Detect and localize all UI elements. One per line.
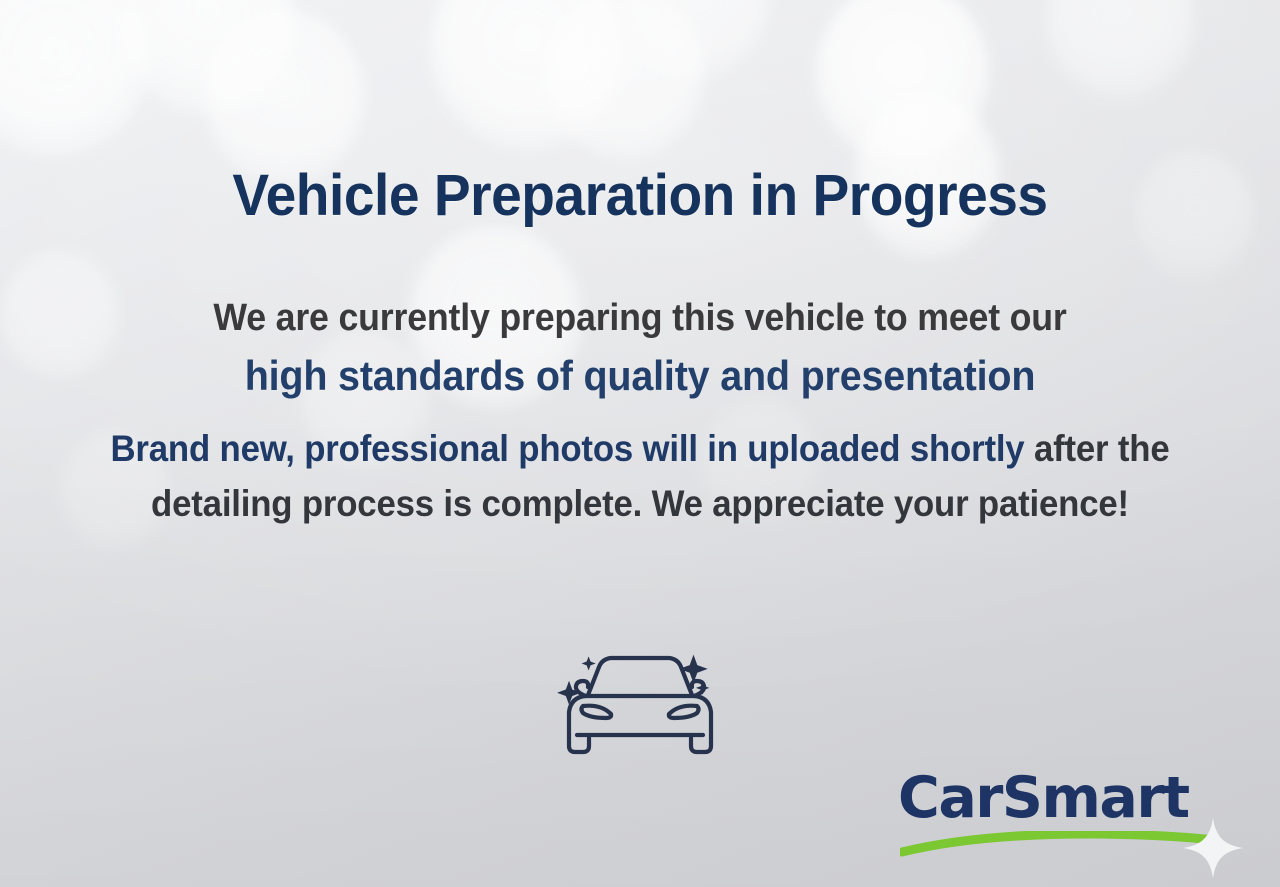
logo-sparkle-icon: [1182, 817, 1244, 879]
car-icon-svg: [545, 634, 735, 774]
logo-wordmark: CarSmart: [898, 765, 1208, 831]
message-paragraph: Brand new, professional photos will in u…: [38, 421, 1241, 532]
message-paragraph-part-1: Brand new, professional photos will in u…: [110, 428, 1024, 469]
carsmart-logo: CarSmart: [898, 765, 1228, 877]
message-block: We are currently preparing this vehicle …: [0, 298, 1280, 532]
message-line-1: We are currently preparing this vehicle …: [38, 298, 1241, 338]
logo-swoosh-icon: [900, 831, 1216, 857]
sparkling-car-icon: [545, 634, 735, 774]
vehicle-preparation-placeholder: Vehicle Preparation in Progress We are c…: [0, 0, 1280, 887]
message-line-2: high standards of quality and presentati…: [38, 354, 1241, 399]
content-area: Vehicle Preparation in Progress We are c…: [0, 0, 1280, 887]
page-title: Vehicle Preparation in Progress: [32, 162, 1248, 229]
